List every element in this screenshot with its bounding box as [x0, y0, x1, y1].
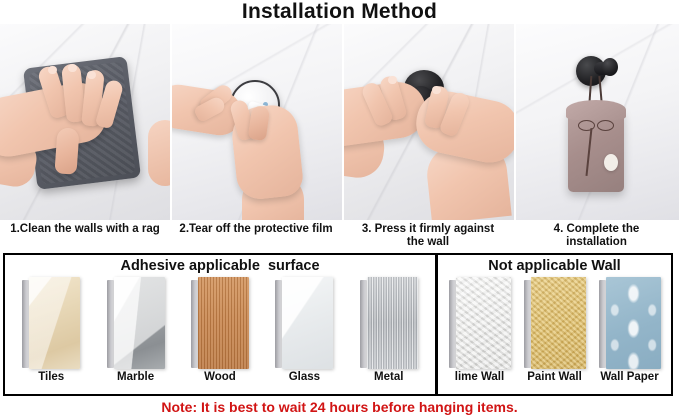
step-photo-tear-film: [172, 24, 342, 220]
swatch-label-paint-wall: Paint Wall: [527, 371, 582, 384]
step-photo-press-wall: [344, 24, 514, 220]
slab-edge: [449, 280, 456, 368]
step-caption-1: 1.Clean the walls with a rag: [0, 220, 170, 253]
nail-left-index: [388, 76, 397, 84]
swatch-slab: [524, 277, 586, 369]
thumb: [54, 127, 79, 174]
installation-method-infographic: Installation Method: [0, 0, 679, 420]
slab-edge: [22, 280, 29, 368]
slab-edge: [275, 280, 282, 368]
applicable-heading: Adhesive applicable surface: [5, 255, 435, 277]
swatch-slab: [599, 277, 661, 369]
hook-knob: [602, 58, 618, 76]
swatch-wood: Wood: [191, 277, 249, 384]
nail-index: [48, 66, 57, 74]
swatch-label-metal: Metal: [374, 371, 403, 384]
swatch-slab: [107, 277, 165, 369]
swatch-slab: [449, 277, 511, 369]
swatch-label-marble: Marble: [117, 371, 154, 384]
slab-face: [606, 277, 661, 369]
slab-face: [29, 277, 80, 369]
swatch-metal: Metal: [360, 277, 418, 384]
swatch-label-tiles: Tiles: [38, 371, 64, 384]
step-caption-4: 4. Complete the installation: [514, 220, 679, 253]
swatch-glass: Glass: [275, 277, 333, 384]
nail-middle: [68, 64, 77, 72]
slab-face: [282, 277, 333, 369]
slab-edge: [524, 280, 531, 368]
step-caption-3: 3. Press it firmly against the wall: [342, 220, 514, 253]
surface-compatibility-panel: Adhesive applicable surface Tiles Marble: [3, 253, 673, 396]
swatch-label-wood: Wood: [204, 371, 236, 384]
step-photo-complete: [516, 24, 679, 220]
swatch-slab: [360, 277, 418, 369]
slab-edge: [107, 280, 114, 368]
bag-bow: [578, 120, 614, 129]
sachet-bag-top: [566, 100, 626, 120]
step-captions: 1.Clean the walls with a rag 2.Tear off …: [0, 220, 679, 253]
applicable-surfaces-section: Adhesive applicable surface Tiles Marble: [5, 255, 435, 394]
warning-note: Note: It is best to wait 24 hours before…: [0, 398, 679, 416]
swatch-label-wall-paper: Wall Paper: [600, 371, 658, 384]
page-title: Installation Method: [242, 0, 437, 24]
slab-face: [367, 277, 418, 369]
swatch-lime-wall: lime Wall: [449, 277, 511, 384]
swatch-slab: [22, 277, 80, 369]
not-applicable-heading: Not applicable Wall: [438, 255, 671, 277]
bag-tag: [604, 154, 618, 171]
not-applicable-surfaces-section: Not applicable Wall lime Wall Paint Wall: [435, 255, 671, 394]
slab-face: [114, 277, 165, 369]
step-photo-strip: [0, 24, 679, 220]
slab-edge: [360, 280, 367, 368]
slab-edge: [599, 280, 606, 368]
swatch-label-glass: Glass: [289, 371, 320, 384]
swatch-label-lime-wall: lime Wall: [455, 371, 504, 384]
swatch-marble: Marble: [107, 277, 165, 384]
second-hand-edge: [148, 120, 170, 186]
slab-edge: [191, 280, 198, 368]
swatch-slab: [275, 277, 333, 369]
swatch-paint-wall: Paint Wall: [524, 277, 586, 384]
nail-ring: [87, 71, 96, 79]
step-caption-2: 2.Tear off the protective film: [170, 220, 342, 253]
applicable-swatch-row: Tiles Marble Wood: [5, 277, 435, 373]
slab-face: [531, 277, 586, 369]
slab-face: [456, 277, 511, 369]
slab-face: [198, 277, 249, 369]
not-applicable-swatch-row: lime Wall Paint Wall Wall Paper: [438, 277, 671, 373]
nail-right-index: [432, 86, 441, 94]
swatch-tiles: Tiles: [22, 277, 80, 384]
swatch-slab: [191, 277, 249, 369]
swatch-wall-paper: Wall Paper: [599, 277, 661, 384]
title-bar: Installation Method: [0, 0, 679, 24]
step-photo-clean-wall: [0, 24, 170, 220]
